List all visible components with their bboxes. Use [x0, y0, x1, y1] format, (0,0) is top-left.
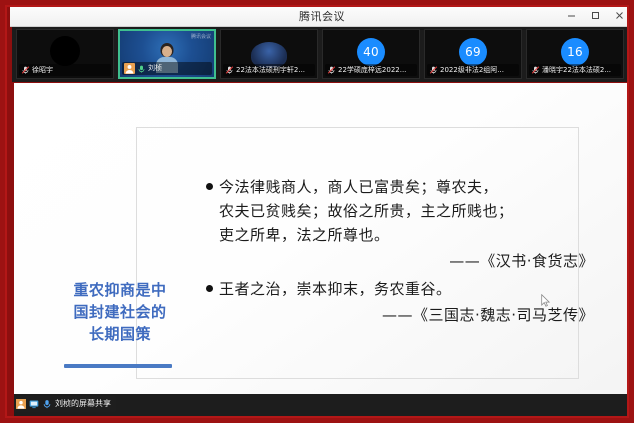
slide-title-line-3: 长期国策 — [48, 323, 192, 345]
avatar-icon — [16, 399, 26, 409]
slide-bullet-text: 王者之治，崇本抑末，务农重谷。 — [219, 277, 452, 301]
screen-share-icon — [29, 399, 39, 409]
participant-name: 2022级非法2组阿... — [440, 66, 504, 75]
close-button[interactable] — [608, 6, 630, 25]
mic-icon — [42, 399, 52, 409]
bullet-dot-icon — [206, 183, 213, 190]
slide-bullet: 王者之治，崇本抑末，务农重谷。 — [206, 277, 598, 301]
participant-thumbnail[interactable]: 40 22学硕庞梓远2022... — [322, 29, 420, 79]
participant-thumbnail-active-speaker[interactable]: 腾讯会议 刘桢 — [118, 29, 216, 79]
slide-body: 今法律贱商人，商人已富贵矣；尊农夫， 农夫已贫贱矣；故俗之所贵，主之所贱也； 吏… — [206, 175, 598, 331]
mic-active-icon — [137, 64, 146, 74]
screen-share-label: 刘桢的屏幕共享 — [55, 399, 111, 409]
participant-name: 刘桢 — [148, 64, 162, 73]
slide-title-line-1: 重农抑商是中 — [48, 279, 192, 301]
slide-side-title: 重农抑商是中 国封建社会的 长期国策 — [48, 279, 192, 345]
presentation-slide: 重农抑商是中 国封建社会的 长期国策 今法律贱商人，商人已富贵矣；尊农夫， 农夫… — [14, 83, 630, 417]
shared-screen-area[interactable]: 重农抑商是中 国封建社会的 长期国策 今法律贱商人，商人已富贵矣；尊农夫， 农夫… — [14, 83, 630, 417]
bullet-1-line-3: 吏之所卑，法之所尊也。 — [219, 226, 390, 244]
meeting-window-frame: 腾讯会议 — [0, 0, 634, 423]
participant-name: 徐昭宇 — [32, 66, 53, 75]
slide-title-line-2: 国封建社会的 — [48, 301, 192, 323]
participant-name-row: 22学硕庞梓远2022... — [325, 64, 417, 76]
participant-avatar-badge: 69 — [459, 38, 487, 66]
participant-thumbnail[interactable]: 16 潘晓宇22法本法硕2... — [526, 29, 624, 79]
video-watermark: 腾讯会议 — [191, 33, 211, 40]
window-title: 腾讯会议 — [299, 8, 345, 24]
minimize-button[interactable] — [560, 6, 582, 25]
participant-name-row: 2022级非法2组阿... — [427, 64, 519, 76]
participant-name-row: 徐昭宇 — [19, 64, 111, 76]
participant-name: 22学硕庞梓远2022... — [338, 66, 406, 75]
slide-bullet-text: 今法律贱商人，商人已富贵矣；尊农夫， 农夫已贫贱矣；故俗之所贵，主之所贱也； 吏… — [219, 175, 514, 247]
participant-thumbnail[interactable]: 69 2022级非法2组阿... — [424, 29, 522, 79]
title-bar: 腾讯会议 — [10, 5, 634, 27]
participant-thumbnail[interactable]: 22法本法硕刑宇轩2... — [220, 29, 318, 79]
mic-muted-icon — [429, 65, 438, 75]
mic-muted-icon — [327, 65, 336, 75]
participant-avatar-badge: 40 — [357, 38, 385, 66]
participant-name-row: 潘晓宇22法本法硕2... — [529, 64, 621, 76]
avatar-icon — [124, 63, 135, 74]
mic-muted-icon — [531, 65, 540, 75]
slide-title-underline — [64, 364, 172, 368]
mouse-cursor-icon — [541, 294, 550, 307]
participant-name: 潘晓宇22法本法硕2... — [542, 66, 611, 75]
participant-name-row: 22法本法硕刑宇轩2... — [223, 64, 315, 76]
participant-avatar-badge: 16 — [561, 38, 589, 66]
slide-bullet: 今法律贱商人，商人已富贵矣；尊农夫， 农夫已贫贱矣；故俗之所贵，主之所贱也； 吏… — [206, 175, 598, 247]
participant-thumbnail-strip[interactable]: 徐昭宇 腾讯会议 — [12, 26, 632, 82]
participant-thumbnail[interactable]: 徐昭宇 — [16, 29, 114, 79]
slide-citation: ——《三国志·魏志·司马芝传》 — [206, 303, 598, 327]
bullet-1-line-1: 今法律贱商人，商人已富贵矣；尊农夫， — [219, 178, 498, 196]
participant-name-row: 刘桢 — [122, 62, 212, 75]
window-controls — [560, 5, 630, 26]
bullet-1-line-2: 农夫已贫贱矣；故俗之所贵，主之所贱也； — [219, 202, 514, 220]
mic-muted-icon — [21, 65, 30, 75]
slide-citation: ——《汉书·食货志》 — [206, 249, 598, 273]
camera-off-blob — [50, 36, 80, 66]
participant-name: 22法本法硕刑宇轩2... — [236, 66, 305, 75]
screen-share-indicator[interactable]: 刘桢的屏幕共享 — [14, 396, 116, 412]
maximize-button[interactable] — [584, 6, 606, 25]
bullet-dot-icon — [206, 285, 213, 292]
mic-muted-icon — [225, 65, 234, 75]
